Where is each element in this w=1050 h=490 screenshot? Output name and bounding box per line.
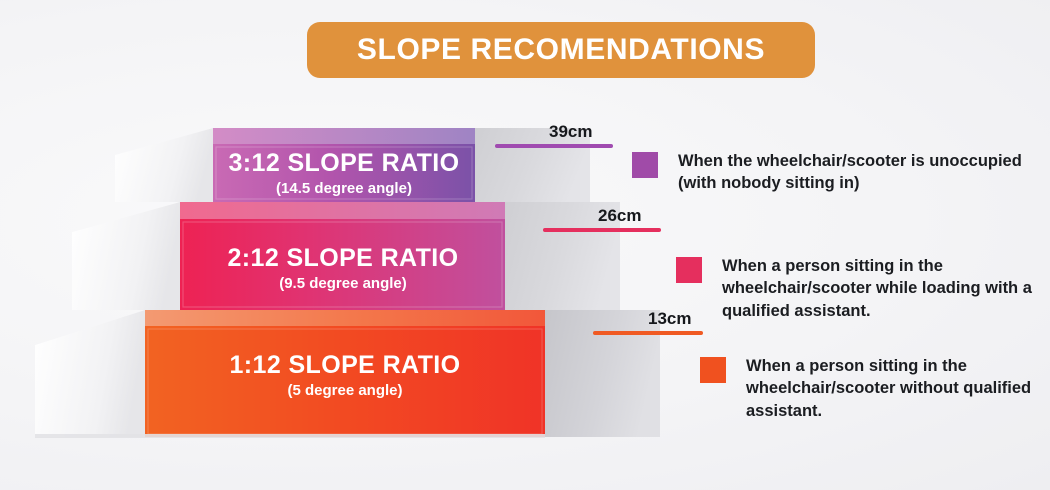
measurement-26cm-rule — [543, 228, 661, 232]
measurement-39cm-rule — [495, 144, 613, 148]
measurement-13cm-rule — [593, 331, 703, 335]
step-middle-left-face — [72, 202, 180, 310]
step-bottom-front-face — [145, 326, 545, 437]
step-bottom-right-face — [545, 310, 660, 437]
infographic-canvas: SLOPE RECOMENDATIONS — [0, 0, 1050, 490]
step-bottom-lip — [145, 310, 545, 326]
legend-item-with-assistant: When a person sitting in the wheelchair/… — [676, 255, 1048, 322]
step-middle-lip — [180, 202, 505, 219]
measurement-26cm-value: 26cm — [598, 206, 641, 226]
step-top-left-face — [115, 128, 213, 202]
slope-staircase-graphic — [0, 0, 660, 490]
legend-swatch-pink — [676, 257, 702, 283]
step-top-front-face — [213, 144, 475, 202]
ground-shadow — [35, 434, 545, 438]
legend-item-unoccupied: When the wheelchair/scooter is unoccupie… — [632, 150, 1032, 195]
legend-text-unoccupied: When the wheelchair/scooter is unoccupie… — [678, 150, 1032, 195]
legend-item-without-assistant: When a person sitting in the wheelchair/… — [700, 355, 1050, 422]
legend-swatch-orange — [700, 357, 726, 383]
legend-text-with-assistant: When a person sitting in the wheelchair/… — [722, 255, 1048, 322]
step-top-lip — [213, 128, 475, 144]
step-middle-front-face — [180, 219, 505, 310]
step-bottom-left-face — [35, 310, 145, 437]
legend-swatch-purple — [632, 152, 658, 178]
measurement-39cm-value: 39cm — [549, 122, 592, 142]
legend-text-without-assistant: When a person sitting in the wheelchair/… — [746, 355, 1046, 422]
